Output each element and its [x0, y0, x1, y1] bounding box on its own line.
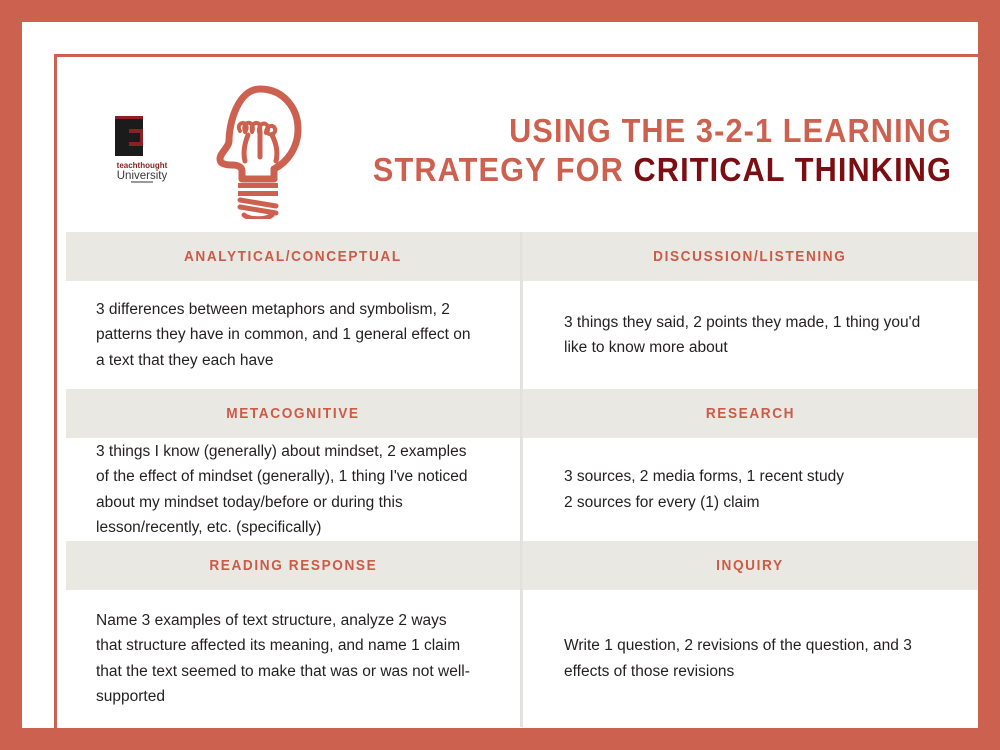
head-lightbulb-icon	[192, 79, 310, 219]
column-divider	[521, 232, 523, 727]
title-line-2-plain: STRATEGY FOR	[373, 151, 634, 188]
body-cell-reading-response: Name 3 examples of text structure, analy…	[66, 590, 522, 727]
body-text: 3 sources, 2 media forms, 1 recent study…	[564, 464, 844, 514]
header-cell-research: RESEARCH	[522, 389, 978, 438]
body-text: Name 3 examples of text structure, analy…	[96, 608, 474, 708]
poster-background: teachthought University	[0, 0, 1000, 750]
svg-text:University: University	[117, 170, 168, 182]
header-label: INQUIRY	[716, 558, 783, 574]
poster-header: teachthought University	[66, 66, 978, 232]
header-label: DISCUSSION/LISTENING	[653, 249, 846, 265]
infographic-card: teachthought University	[66, 66, 978, 728]
body-cell-research: 3 sources, 2 media forms, 1 recent study…	[522, 438, 978, 541]
body-cell-inquiry: Write 1 question, 2 revisions of the que…	[522, 590, 978, 727]
header-label: READING RESPONSE	[209, 558, 377, 574]
header-cell-reading-response: READING RESPONSE	[66, 541, 522, 590]
title-line-2-accent: CRITICAL THINKING	[634, 151, 952, 188]
white-frame: teachthought University	[22, 22, 978, 728]
body-text: 3 things they said, 2 points they made, …	[564, 310, 942, 360]
body-cell-analytical: 3 differences between metaphors and symb…	[66, 281, 522, 389]
title-line-2: STRATEGY FOR CRITICAL THINKING	[355, 151, 952, 190]
header-cell-inquiry: INQUIRY	[522, 541, 978, 590]
body-text: Write 1 question, 2 revisions of the que…	[564, 633, 942, 683]
strategy-table: ANALYTICAL/CONCEPTUAL DISCUSSION/LISTENI…	[66, 232, 978, 727]
title-line-1: USING THE 3-2-1 LEARNING	[355, 112, 952, 151]
teachthought-university-wordmark: teachthought University	[109, 160, 175, 184]
header-cell-metacognitive: METACOGNITIVE	[66, 389, 522, 438]
body-text: 3 things I know (generally) about mindse…	[96, 439, 474, 539]
body-cell-metacognitive: 3 things I know (generally) about mindse…	[66, 438, 522, 541]
body-text: 3 differences between metaphors and symb…	[96, 297, 474, 372]
svg-text:teachthought: teachthought	[117, 161, 168, 170]
header-cell-discussion: DISCUSSION/LISTENING	[522, 232, 978, 281]
body-cell-discussion: 3 things they said, 2 points they made, …	[522, 281, 978, 389]
teachthought-university-logo: teachthought University	[96, 114, 188, 184]
page-title: USING THE 3-2-1 LEARNING STRATEGY FOR CR…	[310, 108, 966, 190]
teachthought-logo-icon	[111, 114, 173, 158]
header-cell-analytical: ANALYTICAL/CONCEPTUAL	[66, 232, 522, 281]
header-label: RESEARCH	[705, 406, 794, 422]
header-label: METACOGNITIVE	[226, 406, 359, 422]
header-label: ANALYTICAL/CONCEPTUAL	[184, 249, 402, 265]
